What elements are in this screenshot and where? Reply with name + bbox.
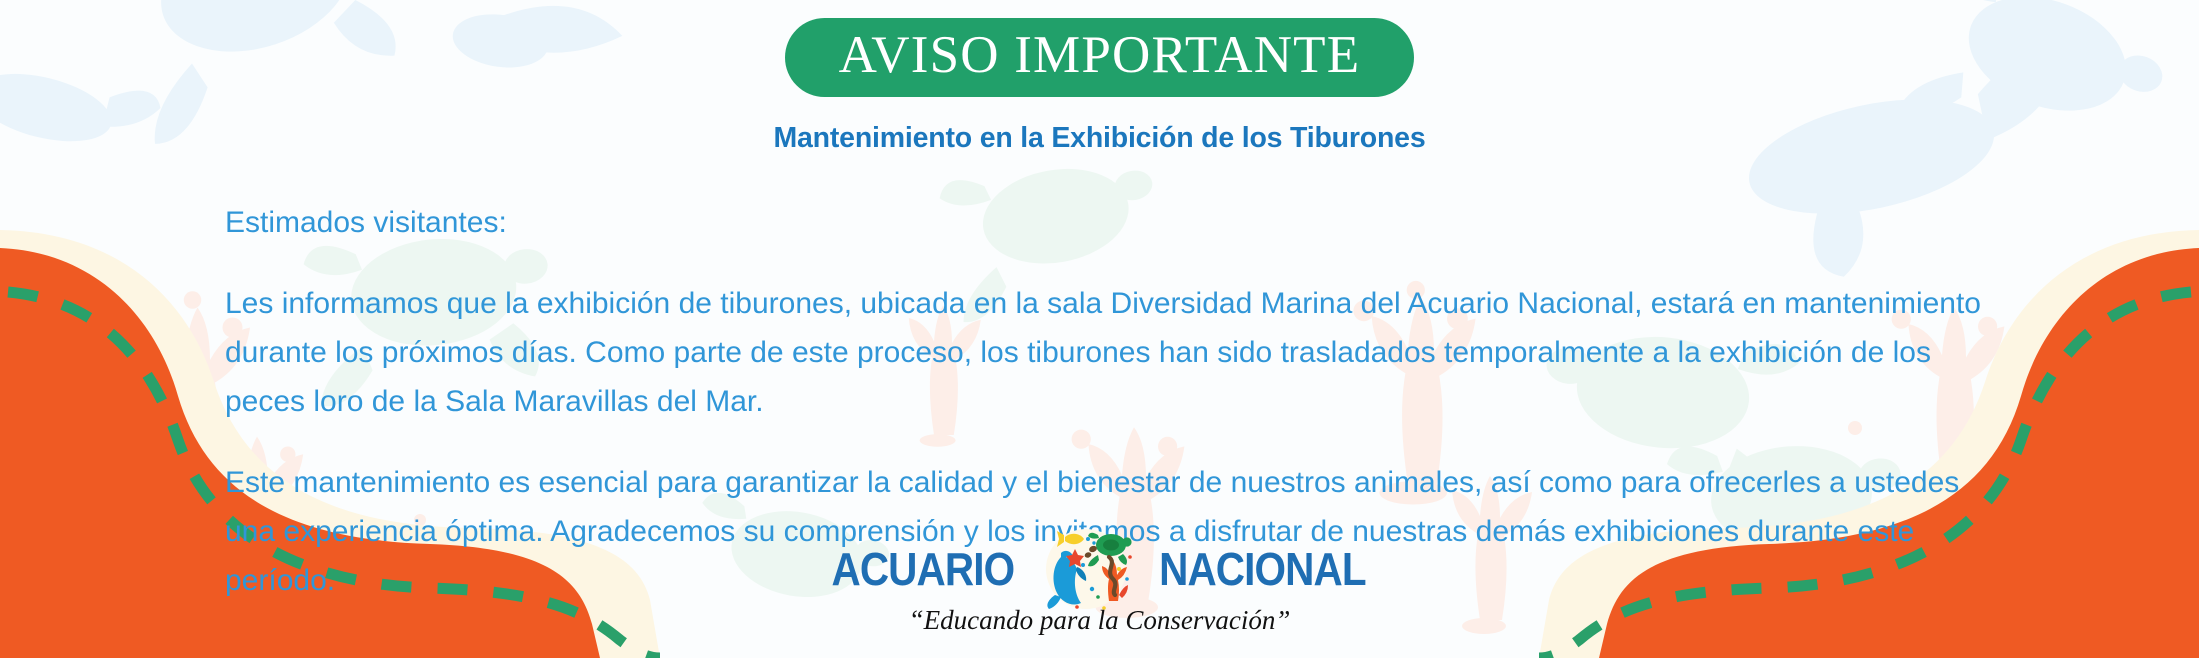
logo-word-acuario: ACUARIO <box>832 542 1015 596</box>
logo-emblem <box>1031 523 1141 615</box>
aviso-badge-wrap: AVISO IMPORTANTE <box>0 18 2199 97</box>
logo-wordmark-row: ACUARIO <box>819 538 1379 600</box>
paragraph-1-line-1: Les informamos que la exhibición de tibu… <box>225 279 1985 328</box>
logo-word-nacional: NACIONAL <box>1159 542 1366 596</box>
paragraph-1-line-3: peces loro de la Sala Maravillas del Mar… <box>225 377 1985 426</box>
notice-content: AVISO IMPORTANTE Mantenimiento en la Exh… <box>0 0 2199 658</box>
acuario-nacional-logo: ACUARIO <box>0 538 2199 636</box>
paragraph-1-line-2: durante los próximos días. Como parte de… <box>225 328 1985 377</box>
paragraph-2-line-1: Este mantenimiento es esencial para gara… <box>225 458 1985 507</box>
salutation-line: Estimados visitantes: <box>225 198 1985 247</box>
logo-tagline: “Educando para la Conservación” <box>909 605 1291 636</box>
notice-subtitle: Mantenimiento en la Exhibición de los Ti… <box>0 122 2199 155</box>
aviso-importante-badge: AVISO IMPORTANTE <box>785 18 1415 97</box>
paragraph-gap-1 <box>225 247 1985 279</box>
paragraph-gap-2 <box>225 426 1985 458</box>
